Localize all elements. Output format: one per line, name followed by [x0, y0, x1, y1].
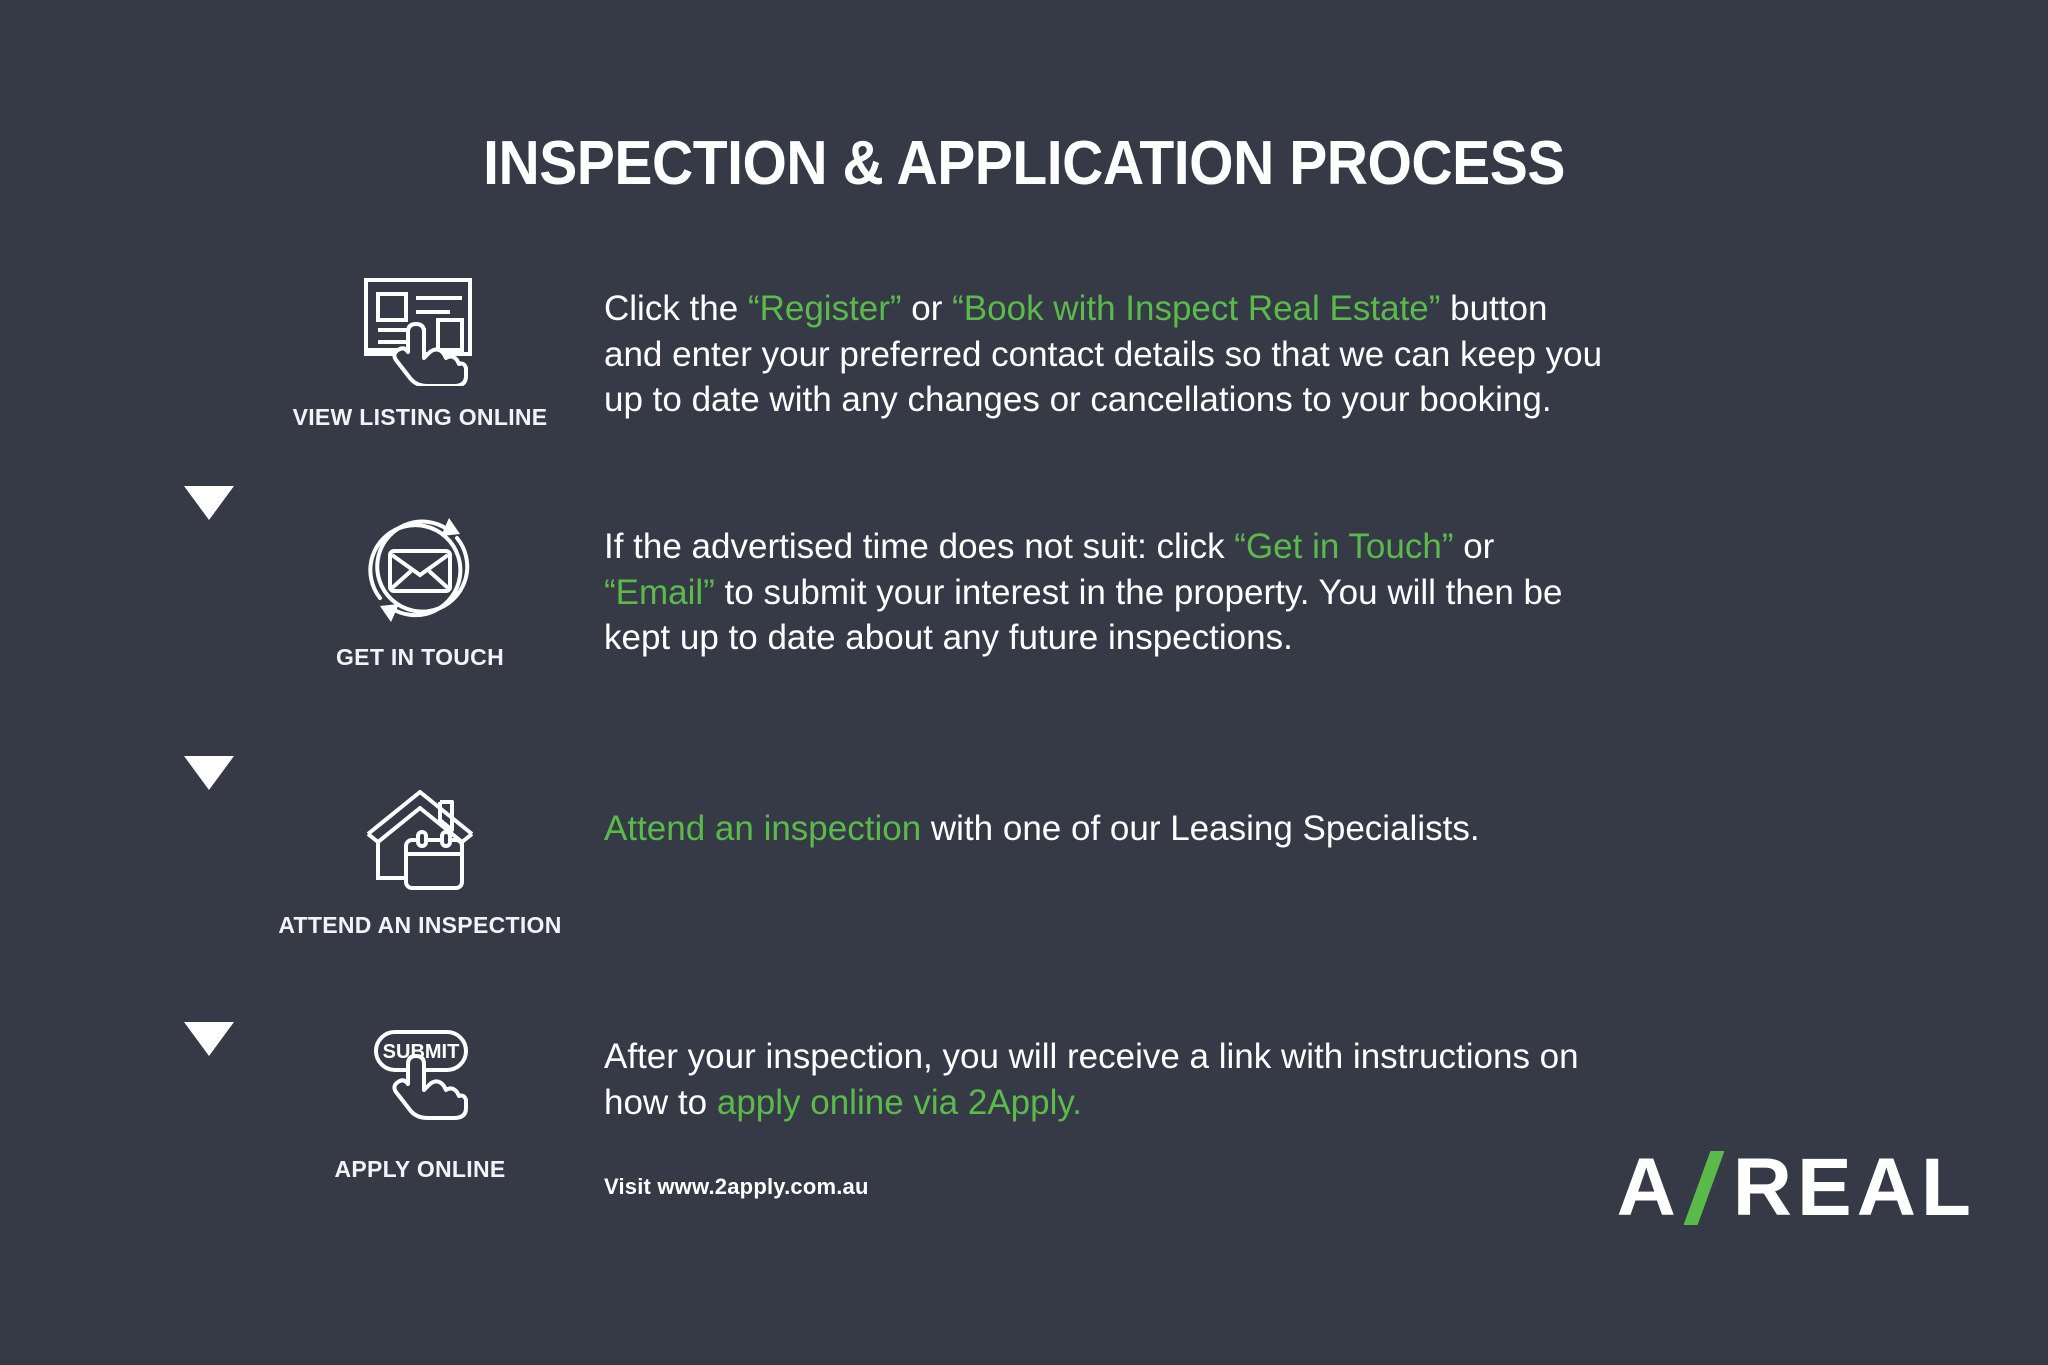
highlight-register: “Register” [748, 289, 902, 328]
step-label: VIEW LISTING ONLINE [230, 404, 610, 431]
highlight-email: “Email” [604, 573, 715, 612]
slash-icon [1683, 1151, 1724, 1225]
text-segment: or [902, 289, 953, 328]
page-title: INSPECTION & APPLICATION PROCESS [82, 128, 1966, 199]
step-icon-column: SUBMIT APPLY ONLINE [230, 1022, 610, 1183]
step-label: GET IN TOUCH [230, 644, 610, 671]
visit-url-text: Visit www.2apply.com.au [604, 1174, 869, 1200]
text-segment: If the advertised time does not suit: cl… [604, 527, 1234, 566]
step-icon-column: ATTEND AN INSPECTION [230, 778, 610, 939]
step-description: Click the “Register” or “Book with Inspe… [604, 286, 1614, 423]
step-label: APPLY ONLINE [230, 1156, 610, 1183]
step-icon-column: GET IN TOUCH [230, 510, 610, 671]
text-segment: with one of our Leasing Specialists. [921, 809, 1479, 848]
listing-page-click-icon [230, 270, 610, 390]
email-cycle-icon [230, 510, 610, 630]
submit-button-click-icon: SUBMIT [230, 1022, 610, 1142]
down-triangle-icon [184, 1022, 234, 1056]
logo-letter-a: A [1617, 1147, 1681, 1229]
highlight-get-in-touch: “Get in Touch” [1234, 527, 1453, 566]
highlight-attend-an-inspection: Attend an inspection [604, 809, 921, 848]
step-description: After your inspection, you will receive … [604, 1034, 1614, 1125]
step-label: ATTEND AN INSPECTION [230, 912, 610, 939]
logo-word-real: REAL [1733, 1147, 1976, 1229]
highlight-book-with-inspect-real-estate: “Book with Inspect Real Estate” [952, 289, 1440, 328]
text-segment: to submit your interest in the property.… [604, 573, 1562, 658]
step-icon-column: VIEW LISTING ONLINE [230, 270, 610, 431]
step-description: Attend an inspection with one of our Lea… [604, 806, 1614, 852]
text-segment: or [1453, 527, 1494, 566]
text-segment: Click the [604, 289, 748, 328]
step-description: If the advertised time does not suit: cl… [604, 524, 1614, 661]
brand-logo: A REAL [1617, 1147, 1976, 1229]
highlight-apply-online-via-2apply: apply online via 2Apply. [717, 1083, 1082, 1122]
down-triangle-icon [184, 756, 234, 790]
down-triangle-icon [184, 486, 234, 520]
house-calendar-icon [230, 778, 610, 898]
